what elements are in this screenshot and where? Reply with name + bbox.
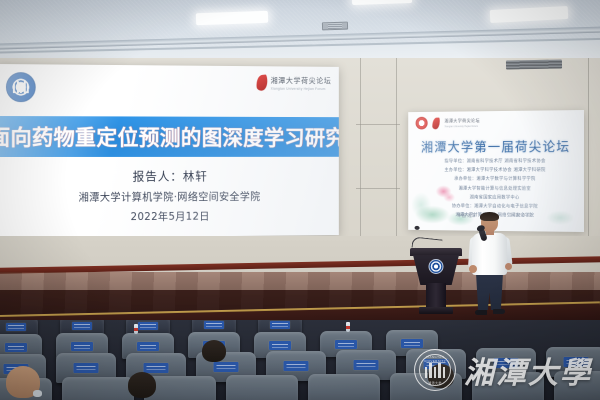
seat-placard [74, 363, 99, 373]
slide-title-band: 面向药物重定位预测的图深度学习研究 [0, 116, 339, 157]
seat-placard [401, 339, 423, 348]
side-screen-organizer-lines: 指导单位：湖南省科学技术厅 湖南省科学技术协会 主办单位：湘潭大学科学技术协会 … [408, 158, 584, 219]
presenter-right-hand [505, 263, 512, 270]
slide-affiliation: 湘潭大学计算机学院·网络空间安全学院 [78, 189, 260, 205]
seat [308, 374, 380, 400]
main-projection-screen: 湘潭大学荷尖论坛 Xiangtan University Hejian Foru… [0, 64, 339, 238]
seat-placard [5, 343, 27, 352]
seat-placard [6, 323, 26, 331]
side-screen-logos: 湘潭大学荷尖论坛 Xiangtan University Hejian Foru… [416, 116, 480, 129]
seat [62, 377, 134, 400]
seat-placard [284, 361, 309, 371]
seat [472, 372, 544, 400]
side-logo-en: Xiangtan University Hejian Forum [444, 124, 479, 127]
seat-placard [204, 321, 224, 329]
presenter-left-hand [469, 265, 477, 273]
side-screen-title: 湘潭大学第一届荷尖论坛 [408, 136, 584, 156]
slide-speaker: 报告人：林轩 [133, 168, 208, 185]
lectern-university-emblem-icon [429, 259, 444, 274]
lectern-stem [426, 283, 446, 307]
wall-panel-seam [588, 58, 589, 258]
side-logo-cn: 湘潭大学荷尖论坛 [444, 118, 479, 124]
wall-panel-seam [356, 124, 400, 125]
ceiling-air-vent [322, 22, 348, 31]
flame-icon [256, 74, 269, 91]
seat [554, 371, 600, 400]
forum-logo-en: Xiangtan University Hejian Forum [271, 87, 332, 91]
seat-placard [71, 342, 93, 351]
university-seal-icon [416, 117, 428, 130]
wall-air-vent [506, 60, 562, 70]
wall-panel-seam [360, 58, 361, 258]
audience-head [128, 372, 156, 398]
organizer-line: 承办单位：湘潭大学数学与计算科学学院 [454, 176, 536, 182]
seat-placard [138, 322, 158, 330]
audience-head [428, 364, 454, 388]
seat-placard [270, 321, 290, 329]
footer-date: 2022-5-12 [510, 213, 532, 219]
audience-head [6, 366, 40, 398]
seat-placard [269, 341, 291, 350]
organizer-line: 指导单位：湖南省科学技术厅 湖南省科学技术协会 [444, 158, 545, 164]
slide-title: 面向药物重定位预测的图深度学习研究 [0, 121, 339, 152]
flame-icon [432, 117, 439, 129]
forum-logo: 湘潭大学荷尖论坛 Xiangtan University Hejian Foru… [256, 75, 331, 91]
ceiling-panel-light [196, 11, 268, 26]
organizer-line: 主办单位：湘潭大学科学技术协会 湘潭大学科研院 [444, 167, 545, 173]
lectern-base [419, 307, 453, 314]
audience-seating [0, 320, 600, 400]
emblem-glyph [13, 81, 29, 93]
forum-logo-cn: 湘潭大学荷尖论坛 [271, 75, 332, 86]
wall-panel-seam [396, 58, 397, 258]
forum-logo-text: 湘潭大学荷尖论坛 Xiangtan University Hejian Foru… [271, 75, 332, 91]
organizer-line: 协办单位：湘潭大学自动化与电子信息学院 [452, 203, 538, 210]
seat-placard [214, 362, 239, 372]
water-bottle [134, 324, 138, 334]
presenter-right-shoe [493, 309, 505, 314]
seat-placard [72, 322, 92, 330]
seat-placard [564, 357, 589, 367]
organizer-line: 湖南省国家应用数学中心 [470, 194, 520, 200]
presenter-hair [480, 212, 499, 221]
presenter-shirt [472, 233, 507, 275]
microphone-head [414, 226, 419, 230]
xiangtan-university-emblem-icon [6, 72, 36, 102]
organizer-line: 湘潭大学智能计算与信息处理实验室 [459, 185, 531, 191]
lectern-top [410, 248, 462, 256]
lectern [410, 248, 462, 314]
water-bottle [346, 322, 350, 332]
presenter-left-shoe [475, 310, 487, 315]
side-logo-text: 湘潭大学荷尖论坛 Xiangtan University Hejian Foru… [444, 118, 479, 128]
audience-head [202, 340, 226, 362]
seat-placard [354, 360, 379, 370]
slide-date: 2022年5月12日 [131, 209, 210, 224]
presenter-trousers [476, 273, 503, 310]
lecture-hall-photo: 湘潭大学荷尖论坛 Xiangtan University Hejian Foru… [0, 0, 600, 400]
seat [226, 375, 298, 400]
seat-placard [335, 340, 357, 349]
seat-placard [494, 358, 519, 368]
slide-body: 报告人：林轩 湘潭大学计算机学院·网络空间安全学院 2022年5月12日 [0, 167, 339, 225]
seat-placard [137, 342, 159, 351]
presenter [468, 213, 512, 315]
wall-panel-seam [356, 188, 400, 189]
seat-placard [144, 363, 169, 373]
